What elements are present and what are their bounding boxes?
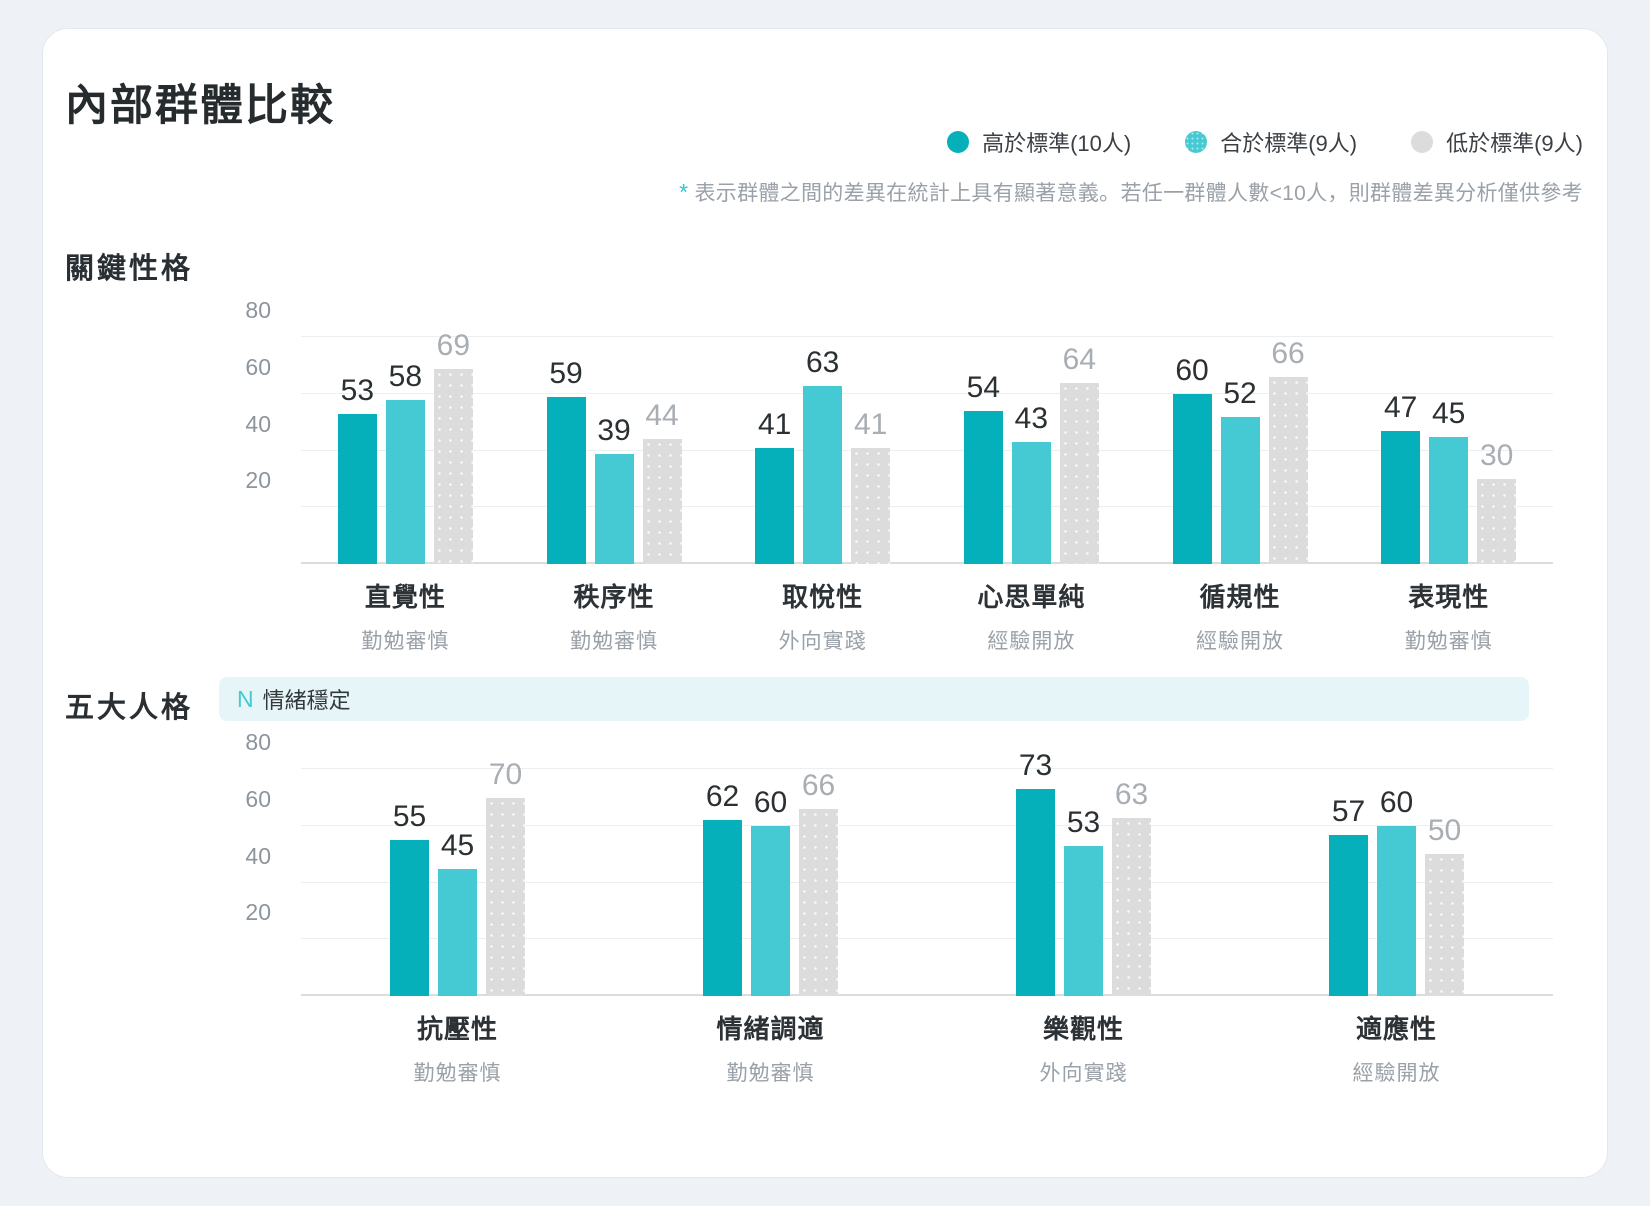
bar-group: 554570 — [301, 741, 614, 996]
y-axis-tick-label: 20 — [245, 467, 271, 494]
y-axis-tick-label: 60 — [245, 354, 271, 381]
x-axis-label-main: 適應性 — [1240, 1009, 1553, 1046]
bar-value-label: 70 — [489, 758, 522, 792]
bar-groups: 554570626066735363576050 — [301, 741, 1553, 996]
trait-name: 情緒穩定 — [263, 683, 351, 715]
bar-value-label: 41 — [854, 408, 887, 442]
bar[interactable] — [1377, 826, 1416, 996]
bar[interactable] — [1425, 854, 1464, 996]
bar[interactable] — [338, 414, 377, 564]
bar[interactable] — [703, 820, 742, 996]
x-axis-label-main: 直覺性 — [301, 577, 510, 614]
bar-column[interactable]: 64 — [1060, 309, 1099, 564]
bar[interactable] — [1221, 417, 1260, 564]
bar[interactable] — [1112, 818, 1151, 997]
x-axis-label-cell: 心思單純經驗開放 — [927, 577, 1136, 655]
bar-value-label: 63 — [806, 346, 839, 380]
bar-value-label: 52 — [1223, 377, 1256, 411]
legend-label-above: 高於標準(10人) — [982, 126, 1131, 158]
bar-value-label: 60 — [754, 786, 787, 820]
legend-dot-above-icon — [947, 131, 969, 153]
x-axis-label-cell: 循規性經驗開放 — [1136, 577, 1345, 655]
bar-value-label: 69 — [437, 329, 470, 363]
bar-group: 735363 — [927, 741, 1240, 996]
bar[interactable] — [595, 454, 634, 565]
bar-column[interactable]: 66 — [1269, 309, 1308, 564]
bar-column[interactable]: 60 — [1173, 309, 1212, 564]
bar-value-label: 43 — [1015, 402, 1048, 436]
bar-value-label: 60 — [1175, 354, 1208, 388]
legend-dot-below-icon — [1411, 131, 1433, 153]
legend: 高於標準(10人) 合於標準(9人) 低於標準(9人) — [947, 126, 1583, 158]
bar[interactable] — [964, 411, 1003, 564]
bar-column[interactable]: 50 — [1425, 741, 1464, 996]
x-axis-label-cell: 秩序性勤勉審慎 — [510, 577, 719, 655]
trait-code: N — [237, 686, 254, 713]
legend-label-below: 低於標準(9人) — [1446, 126, 1583, 158]
bar-column[interactable]: 69 — [434, 309, 473, 564]
trait-badge-emotional-stability[interactable]: N 情緒穩定 — [219, 677, 1529, 721]
bar-value-label: 60 — [1380, 786, 1413, 820]
bar-column[interactable]: 66 — [799, 741, 838, 996]
x-axis-label-cell: 取悅性外向實踐 — [718, 577, 927, 655]
significance-note-text: 表示群體之間的差異在統計上具有顯著意義。若任一群體人數<10人，則群體差異分析僅… — [694, 182, 1583, 205]
bar[interactable] — [755, 448, 794, 564]
x-axis-label-main: 秩序性 — [510, 577, 719, 614]
x-axis-label-cell: 抗壓性勤勉審慎 — [301, 1009, 614, 1087]
bar-value-label: 53 — [1067, 806, 1100, 840]
bar-column[interactable]: 41 — [755, 309, 794, 564]
bar-column[interactable]: 59 — [547, 309, 586, 564]
bar-group: 593944 — [510, 309, 719, 564]
x-axis-labels: 抗壓性勤勉審慎情緒調適勤勉審慎樂觀性外向實踐適應性經驗開放 — [301, 1009, 1553, 1087]
x-axis-label-sub: 經驗開放 — [1240, 1057, 1553, 1087]
bar-column[interactable]: 45 — [1429, 309, 1468, 564]
bar-value-label: 66 — [1271, 337, 1304, 371]
bar-column[interactable]: 52 — [1221, 309, 1260, 564]
bar-value-label: 50 — [1428, 814, 1461, 848]
bar[interactable] — [1173, 394, 1212, 564]
legend-label-meets: 合於標準(9人) — [1220, 126, 1357, 158]
bar-value-label: 47 — [1384, 391, 1417, 425]
bar[interactable] — [1012, 442, 1051, 564]
bar-column[interactable]: 60 — [751, 741, 790, 996]
bar-column[interactable]: 57 — [1329, 741, 1368, 996]
x-axis-label-cell: 表現性勤勉審慎 — [1344, 577, 1553, 655]
y-axis-tick-label: 40 — [245, 411, 271, 438]
significance-note: * 表示群體之間的差異在統計上具有顯著意義。若任一群體人數<10人，則群體差異分… — [679, 177, 1583, 207]
bar-group: 544364 — [927, 309, 1136, 564]
x-axis-label-sub: 經驗開放 — [927, 625, 1136, 655]
bar-group: 605266 — [1136, 309, 1345, 564]
bar[interactable] — [751, 826, 790, 996]
legend-item-meets[interactable]: 合於標準(9人) — [1185, 126, 1357, 158]
x-axis-label-cell: 樂觀性外向實踐 — [927, 1009, 1240, 1087]
bar-value-label: 30 — [1480, 439, 1513, 473]
bar[interactable] — [438, 869, 477, 997]
y-axis-tick-label: 40 — [245, 843, 271, 870]
bar[interactable] — [799, 809, 838, 996]
bar-column[interactable]: 70 — [486, 741, 525, 996]
x-axis-label-cell: 適應性經驗開放 — [1240, 1009, 1553, 1087]
bar-column[interactable]: 53 — [338, 309, 377, 564]
page-title: 內部群體比較 — [65, 71, 335, 133]
bar-value-label: 41 — [758, 408, 791, 442]
bar-column[interactable]: 58 — [386, 309, 425, 564]
x-axis-label-sub: 勤勉審慎 — [301, 1057, 614, 1087]
bar[interactable] — [1269, 377, 1308, 564]
x-axis-label-main: 循規性 — [1136, 577, 1345, 614]
bar[interactable] — [547, 397, 586, 564]
y-axis-tick-label: 80 — [245, 297, 271, 324]
bar-value-label: 55 — [393, 800, 426, 834]
bar[interactable] — [803, 386, 842, 565]
x-axis-label-main: 情緒調適 — [614, 1009, 927, 1046]
bar[interactable] — [1060, 383, 1099, 564]
bar[interactable] — [1381, 431, 1420, 564]
x-axis-label-main: 抗壓性 — [301, 1009, 614, 1046]
bar[interactable] — [1477, 479, 1516, 564]
bar-value-label: 62 — [706, 780, 739, 814]
x-axis-label-sub: 勤勉審慎 — [614, 1057, 927, 1087]
y-axis-tick-label: 20 — [245, 899, 271, 926]
x-axis-label-main: 取悅性 — [718, 577, 927, 614]
bar[interactable] — [434, 369, 473, 565]
x-axis-label-main: 表現性 — [1344, 577, 1553, 614]
bar-column[interactable]: 63 — [803, 309, 842, 564]
bar-column[interactable]: 63 — [1112, 741, 1151, 996]
bar-value-label: 53 — [341, 374, 374, 408]
section-label-big-five: 五大人格 — [65, 684, 193, 726]
bar[interactable] — [1064, 846, 1103, 996]
bar[interactable] — [390, 840, 429, 996]
bar-column[interactable]: 30 — [1477, 309, 1516, 564]
x-axis-label-sub: 外向實踐 — [718, 625, 927, 655]
y-axis-tick-label: 60 — [245, 786, 271, 813]
bar-column[interactable]: 55 — [390, 741, 429, 996]
legend-dot-meets-icon — [1185, 131, 1207, 153]
bar-value-label: 64 — [1063, 343, 1096, 377]
report-card: 內部群體比較 高於標準(10人) 合於標準(9人) 低於標準(9人) * 表示群… — [42, 28, 1608, 1178]
legend-item-above[interactable]: 高於標準(10人) — [947, 126, 1131, 158]
x-axis-label-sub: 勤勉審慎 — [1344, 625, 1553, 655]
x-axis-label-main: 心思單純 — [927, 577, 1136, 614]
bar-groups: 535869593944416341544364605266474530 — [301, 309, 1553, 564]
bar-value-label: 59 — [549, 357, 582, 391]
x-axis-label-sub: 勤勉審慎 — [301, 625, 510, 655]
bar-column[interactable]: 43 — [1012, 309, 1051, 564]
bar-value-label: 63 — [1115, 778, 1148, 812]
bar-value-label: 45 — [441, 829, 474, 863]
bar-column[interactable]: 73 — [1016, 741, 1055, 996]
bar-group: 576050 — [1240, 741, 1553, 996]
bar-column[interactable]: 45 — [438, 741, 477, 996]
x-axis-label-main: 樂觀性 — [927, 1009, 1240, 1046]
bar-column[interactable]: 44 — [643, 309, 682, 564]
bar[interactable] — [851, 448, 890, 564]
section-label-key-traits: 關鍵性格 — [65, 245, 193, 287]
bar[interactable] — [643, 439, 682, 564]
bar-value-label: 54 — [967, 371, 1000, 405]
bar-value-label: 39 — [597, 414, 630, 448]
x-axis-label-cell: 直覺性勤勉審慎 — [301, 577, 510, 655]
x-axis-label-sub: 外向實踐 — [927, 1057, 1240, 1087]
bar-group: 626066 — [614, 741, 927, 996]
x-axis-label-sub: 經驗開放 — [1136, 625, 1345, 655]
bar-column[interactable]: 53 — [1064, 741, 1103, 996]
asterisk-icon: * — [679, 179, 688, 205]
bar[interactable] — [1429, 437, 1468, 565]
bar[interactable] — [386, 400, 425, 564]
bar-column[interactable]: 39 — [595, 309, 634, 564]
bar-column[interactable]: 41 — [851, 309, 890, 564]
bar[interactable] — [1329, 835, 1368, 997]
bar-column[interactable]: 62 — [703, 741, 742, 996]
bar-group: 535869 — [301, 309, 510, 564]
y-axis-tick-label: 80 — [245, 729, 271, 756]
x-axis-labels: 直覺性勤勉審慎秩序性勤勉審慎取悅性外向實踐心思單純經驗開放循規性經驗開放表現性勤… — [301, 577, 1553, 655]
bar[interactable] — [1016, 789, 1055, 996]
legend-item-below[interactable]: 低於標準(9人) — [1411, 126, 1583, 158]
bar-value-label: 45 — [1432, 397, 1465, 431]
bar-value-label: 58 — [389, 360, 422, 394]
x-axis-label-cell: 情緒調適勤勉審慎 — [614, 1009, 927, 1087]
bar-column[interactable]: 54 — [964, 309, 1003, 564]
bar-column[interactable]: 47 — [1381, 309, 1420, 564]
bar-value-label: 66 — [802, 769, 835, 803]
bar-group: 474530 — [1344, 309, 1553, 564]
bar-value-label: 57 — [1332, 795, 1365, 829]
bar-column[interactable]: 60 — [1377, 741, 1416, 996]
x-axis-label-sub: 勤勉審慎 — [510, 625, 719, 655]
bar[interactable] — [486, 798, 525, 996]
bar-value-label: 44 — [645, 399, 678, 433]
bar-group: 416341 — [718, 309, 927, 564]
bar-value-label: 73 — [1019, 749, 1052, 783]
